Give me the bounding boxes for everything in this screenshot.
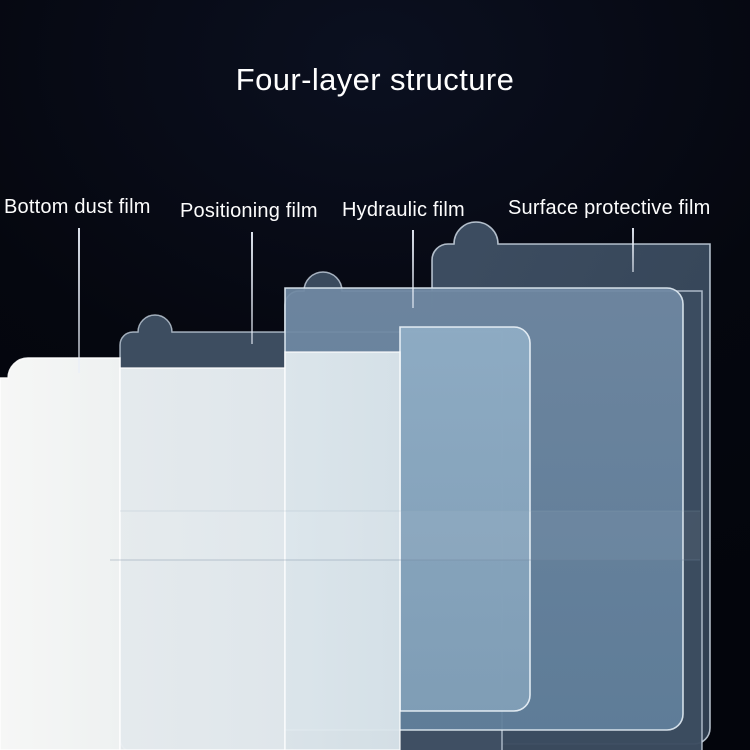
leader-line-surface-protective-film bbox=[632, 228, 634, 272]
band-upper bbox=[120, 511, 700, 560]
page-title: Four-layer structure bbox=[0, 62, 750, 98]
leader-line-positioning-film bbox=[251, 232, 253, 344]
label-surface-protective-film: Surface protective film bbox=[508, 197, 710, 220]
label-bottom-dust-film: Bottom dust film bbox=[4, 196, 151, 219]
label-hydraulic-film: Hydraulic film bbox=[342, 199, 465, 222]
infographic-canvas: Four-layer structure Bottom dust film Po… bbox=[0, 0, 750, 750]
leader-line-bottom-dust-film bbox=[78, 228, 80, 373]
layer-stack bbox=[0, 0, 750, 750]
layer-bottom-dust-film bbox=[0, 358, 120, 750]
label-positioning-film: Positioning film bbox=[180, 200, 318, 223]
leader-line-hydraulic-film bbox=[412, 230, 414, 308]
